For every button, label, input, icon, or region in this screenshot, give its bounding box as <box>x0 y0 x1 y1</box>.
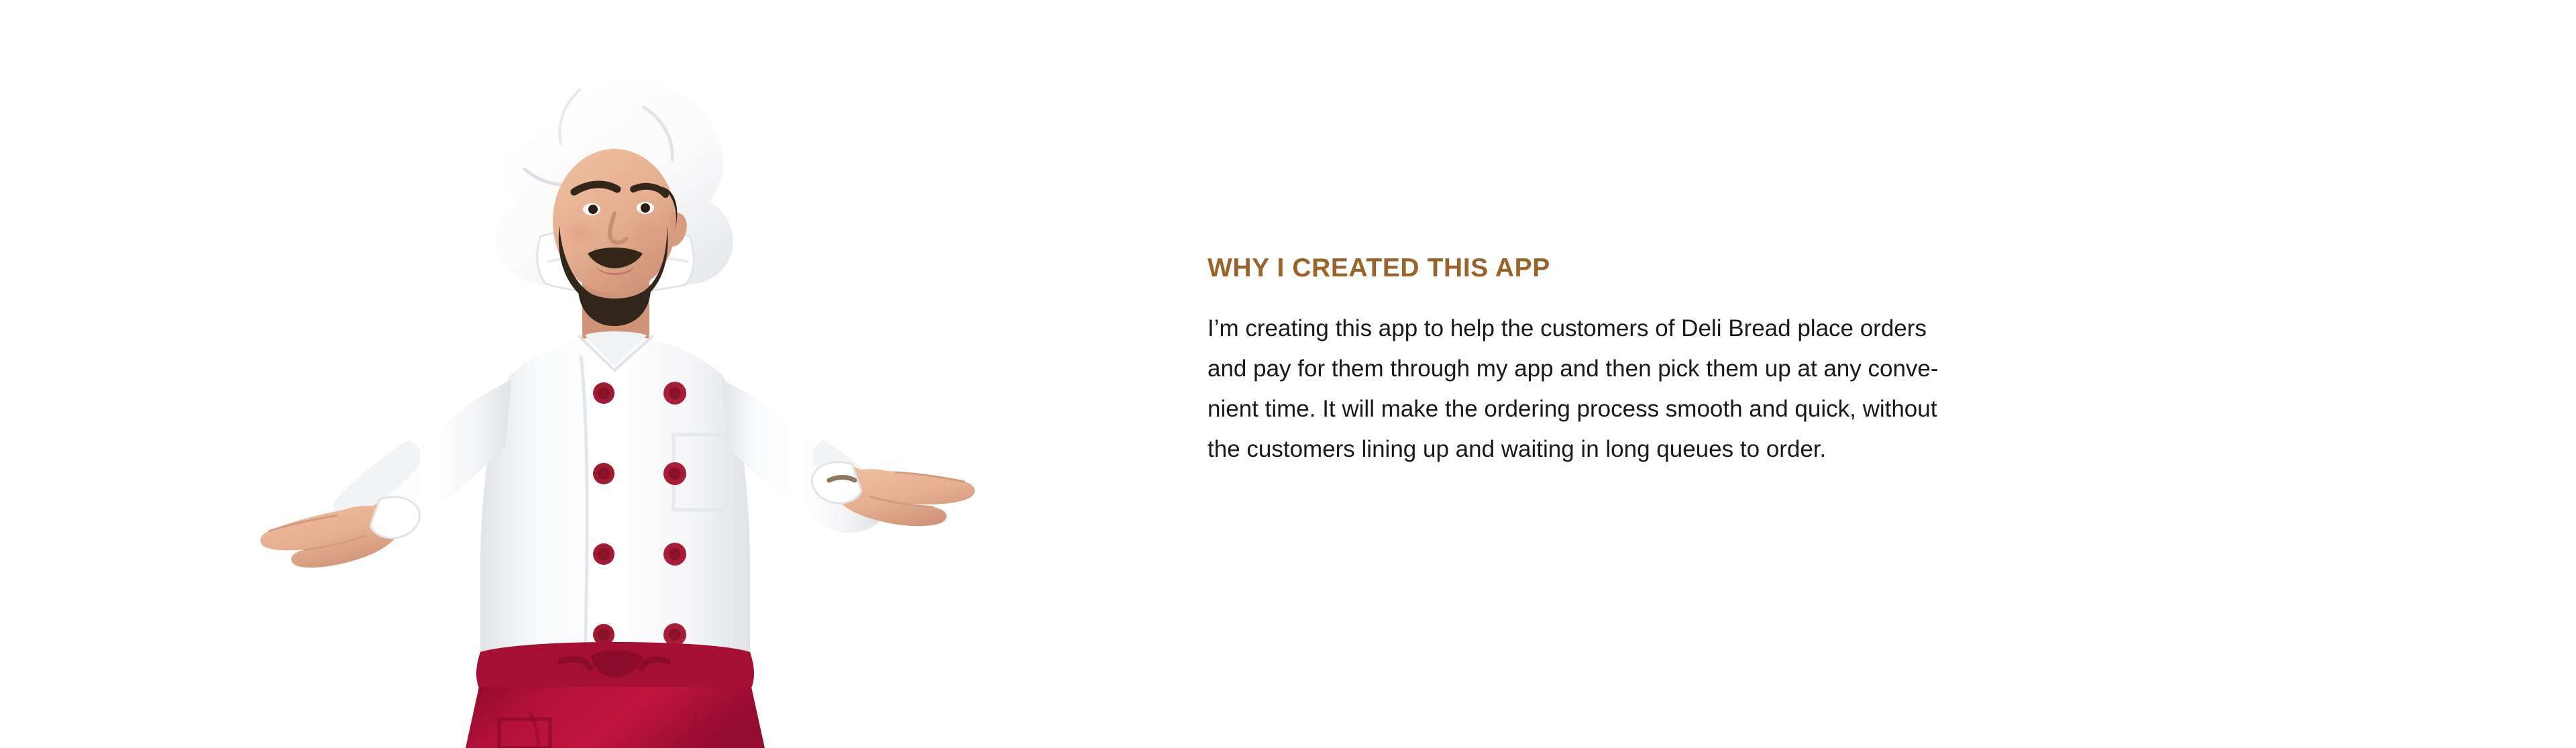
left-arm-open-palm <box>260 380 511 568</box>
body-line-2: and pay for them through my app and then… <box>1207 349 2234 389</box>
body-line-3: nient time. It will make the ordering pr… <box>1207 389 2234 429</box>
why-i-created-this-app-section: WHY I CREATED THIS APP I’m creating this… <box>0 0 2576 748</box>
chef-jacket <box>480 331 750 671</box>
body-paragraph: I’m creating this app to help the custom… <box>1207 309 2234 470</box>
page-title: WHY I CREATED THIS APP <box>1207 254 2254 283</box>
body-line-4: the customers lining up and waiting in l… <box>1207 429 2234 470</box>
chef-shrugging-photo <box>0 0 1140 748</box>
body-line-1: I’m creating this app to help the custom… <box>1207 309 2234 349</box>
illustration-column <box>0 0 1140 748</box>
right-arm-open-palm <box>722 380 975 533</box>
chef-apron <box>466 642 765 748</box>
text-column: WHY I CREATED THIS APP I’m creating this… <box>1207 254 2254 470</box>
